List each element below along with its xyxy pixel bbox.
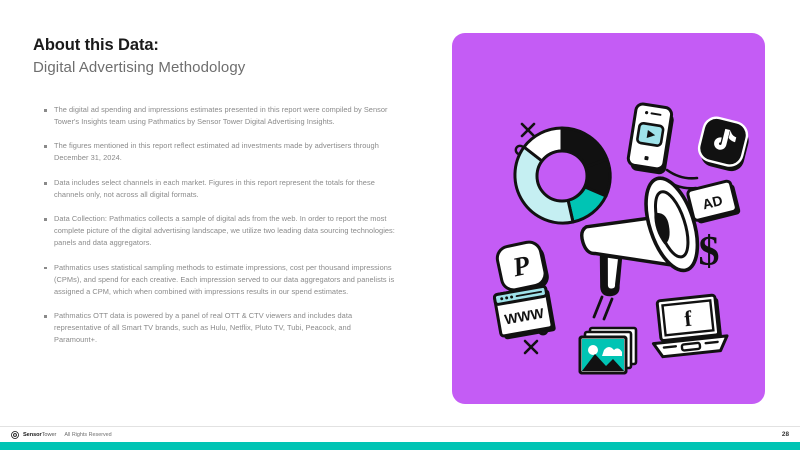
ad-tag-icon: AD bbox=[687, 180, 741, 225]
footer-divider bbox=[0, 426, 800, 427]
list-item: Pathmatics uses statistical sampling met… bbox=[43, 262, 395, 298]
footer-brand: SensorTower All Rights Reserved bbox=[11, 431, 112, 439]
illustration-panel: P bbox=[452, 33, 765, 404]
svg-text:$: $ bbox=[699, 229, 720, 275]
page-subtitle: Digital Advertising Methodology bbox=[33, 59, 413, 77]
brand-name: SensorTower bbox=[23, 432, 56, 438]
dollar-sign-icon: $ bbox=[699, 229, 720, 275]
laptop-facebook-icon: f bbox=[649, 294, 728, 357]
footer: SensorTower All Rights Reserved 28 bbox=[0, 426, 800, 450]
brand-name-bold: Sensor bbox=[23, 432, 42, 438]
list-item: Data includes select channels in each ma… bbox=[43, 177, 395, 201]
footer-accent-bar bbox=[0, 442, 800, 450]
motion-lines-icon bbox=[594, 297, 612, 319]
tiktok-icon bbox=[695, 115, 752, 174]
sensor-tower-logo-icon bbox=[11, 431, 19, 439]
content-area: About this Data: Digital Advertising Met… bbox=[33, 36, 413, 77]
page-title: About this Data: bbox=[33, 36, 413, 56]
brand-name-light: Tower bbox=[42, 432, 57, 438]
donut-chart-icon bbox=[515, 128, 610, 223]
rights-text: All Rights Reserved bbox=[64, 432, 111, 438]
page-number: 28 bbox=[782, 431, 789, 438]
advertising-illustration: P bbox=[452, 33, 765, 404]
list-item: Data Collection: Pathmatics collects a s… bbox=[43, 213, 395, 249]
sparkle-x-icon bbox=[525, 341, 537, 353]
sparkle-x-icon bbox=[522, 124, 534, 136]
list-item: Pathmatics OTT data is powered by a pane… bbox=[43, 310, 395, 346]
smartphone-video-icon bbox=[627, 103, 676, 175]
list-item: The digital ad spending and impressions … bbox=[43, 104, 395, 128]
slide: About this Data: Digital Advertising Met… bbox=[0, 0, 800, 450]
methodology-bullet-list: The digital ad spending and impressions … bbox=[43, 104, 395, 359]
list-item: The figures mentioned in this report ref… bbox=[43, 140, 395, 164]
photo-stack-icon bbox=[580, 328, 636, 373]
browser-www-icon: WWW bbox=[494, 285, 556, 340]
